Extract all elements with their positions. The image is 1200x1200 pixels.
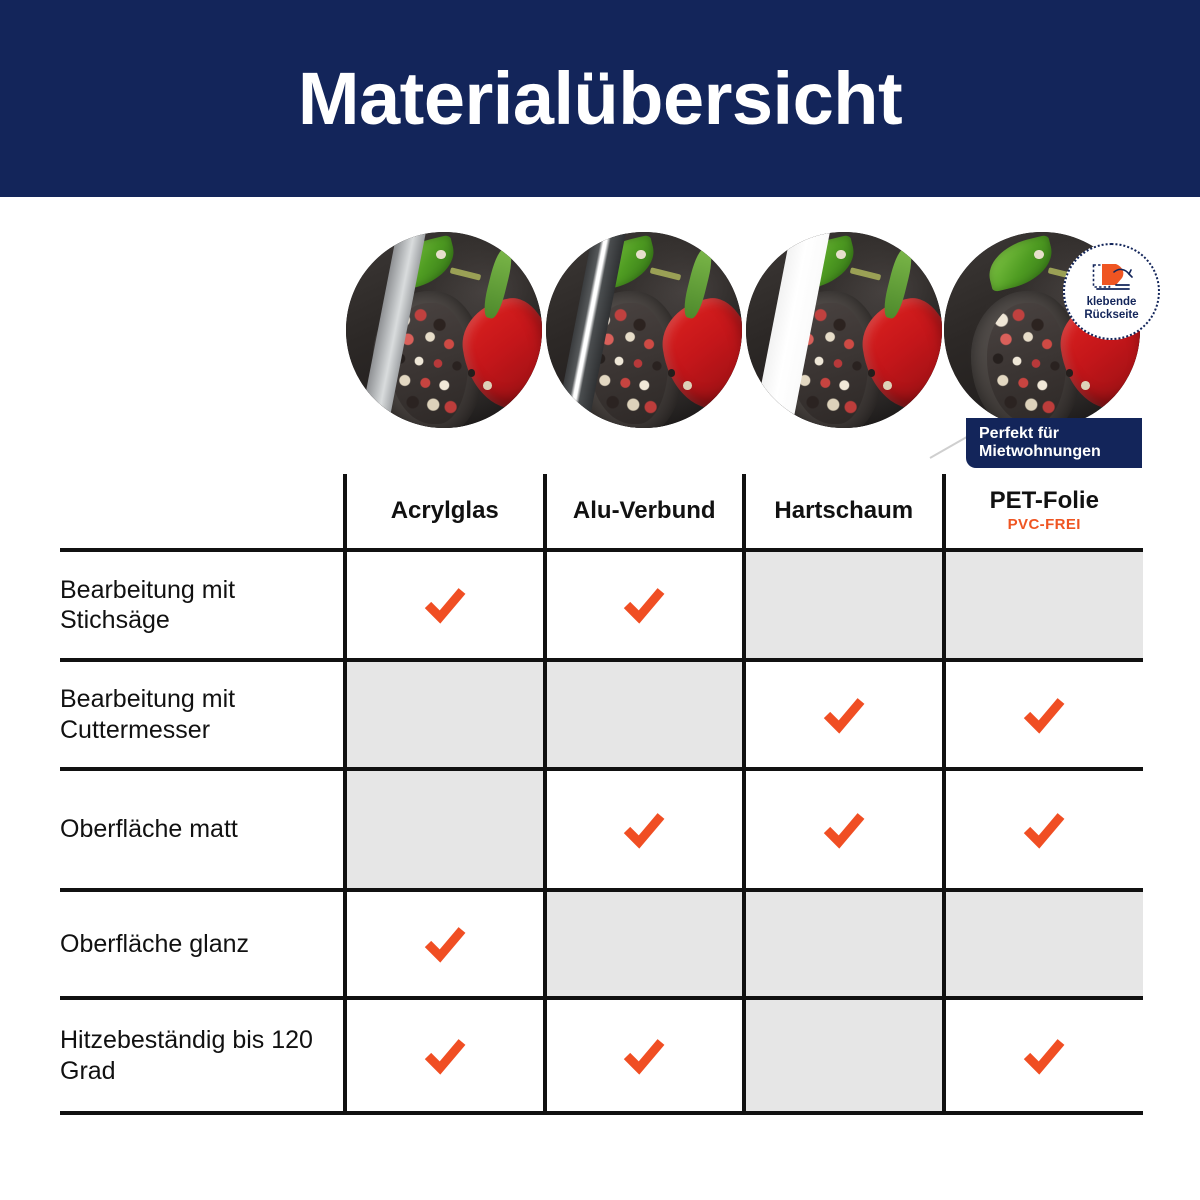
- cell-glanz-acrylglas: [345, 890, 545, 998]
- cell-stichsaege-alu-verbund: [545, 550, 745, 660]
- badge-line-2: Rückseite: [1084, 309, 1138, 321]
- green-leaf: [983, 234, 1058, 292]
- material-preview-alu-verbund[interactable]: [545, 232, 745, 432]
- column-header-pet-folie: PET-Folie PVC-FREI: [944, 474, 1144, 550]
- cell-stichsaege-hartschaum: [744, 550, 944, 660]
- cell-hitzebestaendig-hartschaum: [744, 998, 944, 1113]
- table-header-row: Acrylglas Alu-Verbund Hartschaum PET-Fol…: [60, 474, 1143, 550]
- check-icon: [422, 924, 468, 964]
- leaf-stem: [650, 267, 682, 280]
- table-row: Bearbeitung mit Cuttermesser: [60, 660, 1143, 769]
- table-row: Oberfläche matt: [60, 769, 1143, 890]
- leaf-stem: [450, 267, 482, 280]
- row-label-cuttermesser: Bearbeitung mit Cuttermesser: [60, 660, 345, 769]
- cell-glanz-pet-folie: [944, 890, 1144, 998]
- check-icon: [1021, 1036, 1067, 1076]
- cell-stichsaege-acrylglas: [345, 550, 545, 660]
- check-icon: [1021, 810, 1067, 850]
- product-photo-swatch: [746, 232, 942, 428]
- column-header-acrylglas: Acrylglas: [345, 474, 545, 550]
- cell-cuttermesser-hartschaum: [744, 660, 944, 769]
- table-body: Bearbeitung mit Stichsäge Bearbeitung mi…: [60, 550, 1143, 1113]
- product-photo-swatch: [346, 232, 542, 428]
- material-preview-acrylglas[interactable]: [345, 232, 545, 432]
- cell-glanz-alu-verbund: [545, 890, 745, 998]
- row-label-oberflaeche-glanz: Oberfläche glanz: [60, 890, 345, 998]
- peppercorn-grain: [683, 381, 692, 390]
- leaf-stem: [850, 267, 882, 280]
- material-overview-page: Materialübersicht: [0, 0, 1200, 1200]
- peppercorn-grain: [483, 381, 492, 390]
- column-header-label: Hartschaum: [746, 498, 942, 523]
- cell-cuttermesser-alu-verbund: [545, 660, 745, 769]
- column-header-alu-verbund: Alu-Verbund: [545, 474, 745, 550]
- peeling-sticker-icon: [1091, 262, 1133, 294]
- peppercorn-grain: [883, 381, 892, 390]
- cell-matt-hartschaum: [744, 769, 944, 890]
- cell-matt-pet-folie: [944, 769, 1144, 890]
- column-header-label: Acrylglas: [347, 498, 543, 523]
- cell-hitzebestaendig-acrylglas: [345, 998, 545, 1113]
- table-row: Oberfläche glanz: [60, 890, 1143, 998]
- row-label-oberflaeche-matt: Oberfläche matt: [60, 769, 345, 890]
- page-header: Materialübersicht: [0, 0, 1200, 197]
- check-icon: [821, 810, 867, 850]
- table-row: Bearbeitung mit Stichsäge: [60, 550, 1143, 660]
- badge-line-1: klebende: [1087, 296, 1137, 308]
- cell-cuttermesser-pet-folie: [944, 660, 1144, 769]
- check-icon: [422, 585, 468, 625]
- check-icon: [422, 1036, 468, 1076]
- column-header-hartschaum: Hartschaum: [744, 474, 944, 550]
- column-header-sublabel: PVC-FREI: [946, 515, 1144, 535]
- badge-klebende-rueckseite: klebende Rückseite: [1063, 243, 1160, 340]
- cell-cuttermesser-acrylglas: [345, 660, 545, 769]
- check-icon: [621, 810, 667, 850]
- page-title: Materialübersicht: [298, 62, 902, 136]
- row-label-stichsaege: Bearbeitung mit Stichsäge: [60, 550, 345, 660]
- check-icon: [1021, 695, 1067, 735]
- table-row: Hitzebeständig bis 120 Grad: [60, 998, 1143, 1113]
- cell-hitzebestaendig-alu-verbund: [545, 998, 745, 1113]
- check-icon: [621, 585, 667, 625]
- check-icon: [621, 1036, 667, 1076]
- peppercorn-grain: [1081, 381, 1090, 390]
- material-comparison-table: Acrylglas Alu-Verbund Hartschaum PET-Fol…: [60, 474, 1143, 1115]
- cell-matt-acrylglas: [345, 769, 545, 890]
- cell-stichsaege-pet-folie: [944, 550, 1144, 660]
- row-label-hitzebestaendig: Hitzebeständig bis 120 Grad: [60, 998, 345, 1113]
- ribbon-badge-mietwohnungen: Perfekt für Mietwohnungen: [966, 418, 1142, 468]
- table-corner-cell: [60, 474, 345, 550]
- ribbon-line-2: Mietwohnungen: [979, 443, 1142, 461]
- cell-glanz-hartschaum: [744, 890, 944, 998]
- material-preview-circles: [345, 232, 1143, 432]
- material-preview-hartschaum[interactable]: [745, 232, 945, 432]
- product-photo-swatch: [546, 232, 742, 428]
- column-header-label: Alu-Verbund: [547, 498, 743, 523]
- cell-matt-alu-verbund: [545, 769, 745, 890]
- check-icon: [821, 695, 867, 735]
- column-header-label: PET-Folie: [946, 488, 1144, 513]
- cell-hitzebestaendig-pet-folie: [944, 998, 1144, 1113]
- ribbon-line-1: Perfekt für: [979, 425, 1142, 443]
